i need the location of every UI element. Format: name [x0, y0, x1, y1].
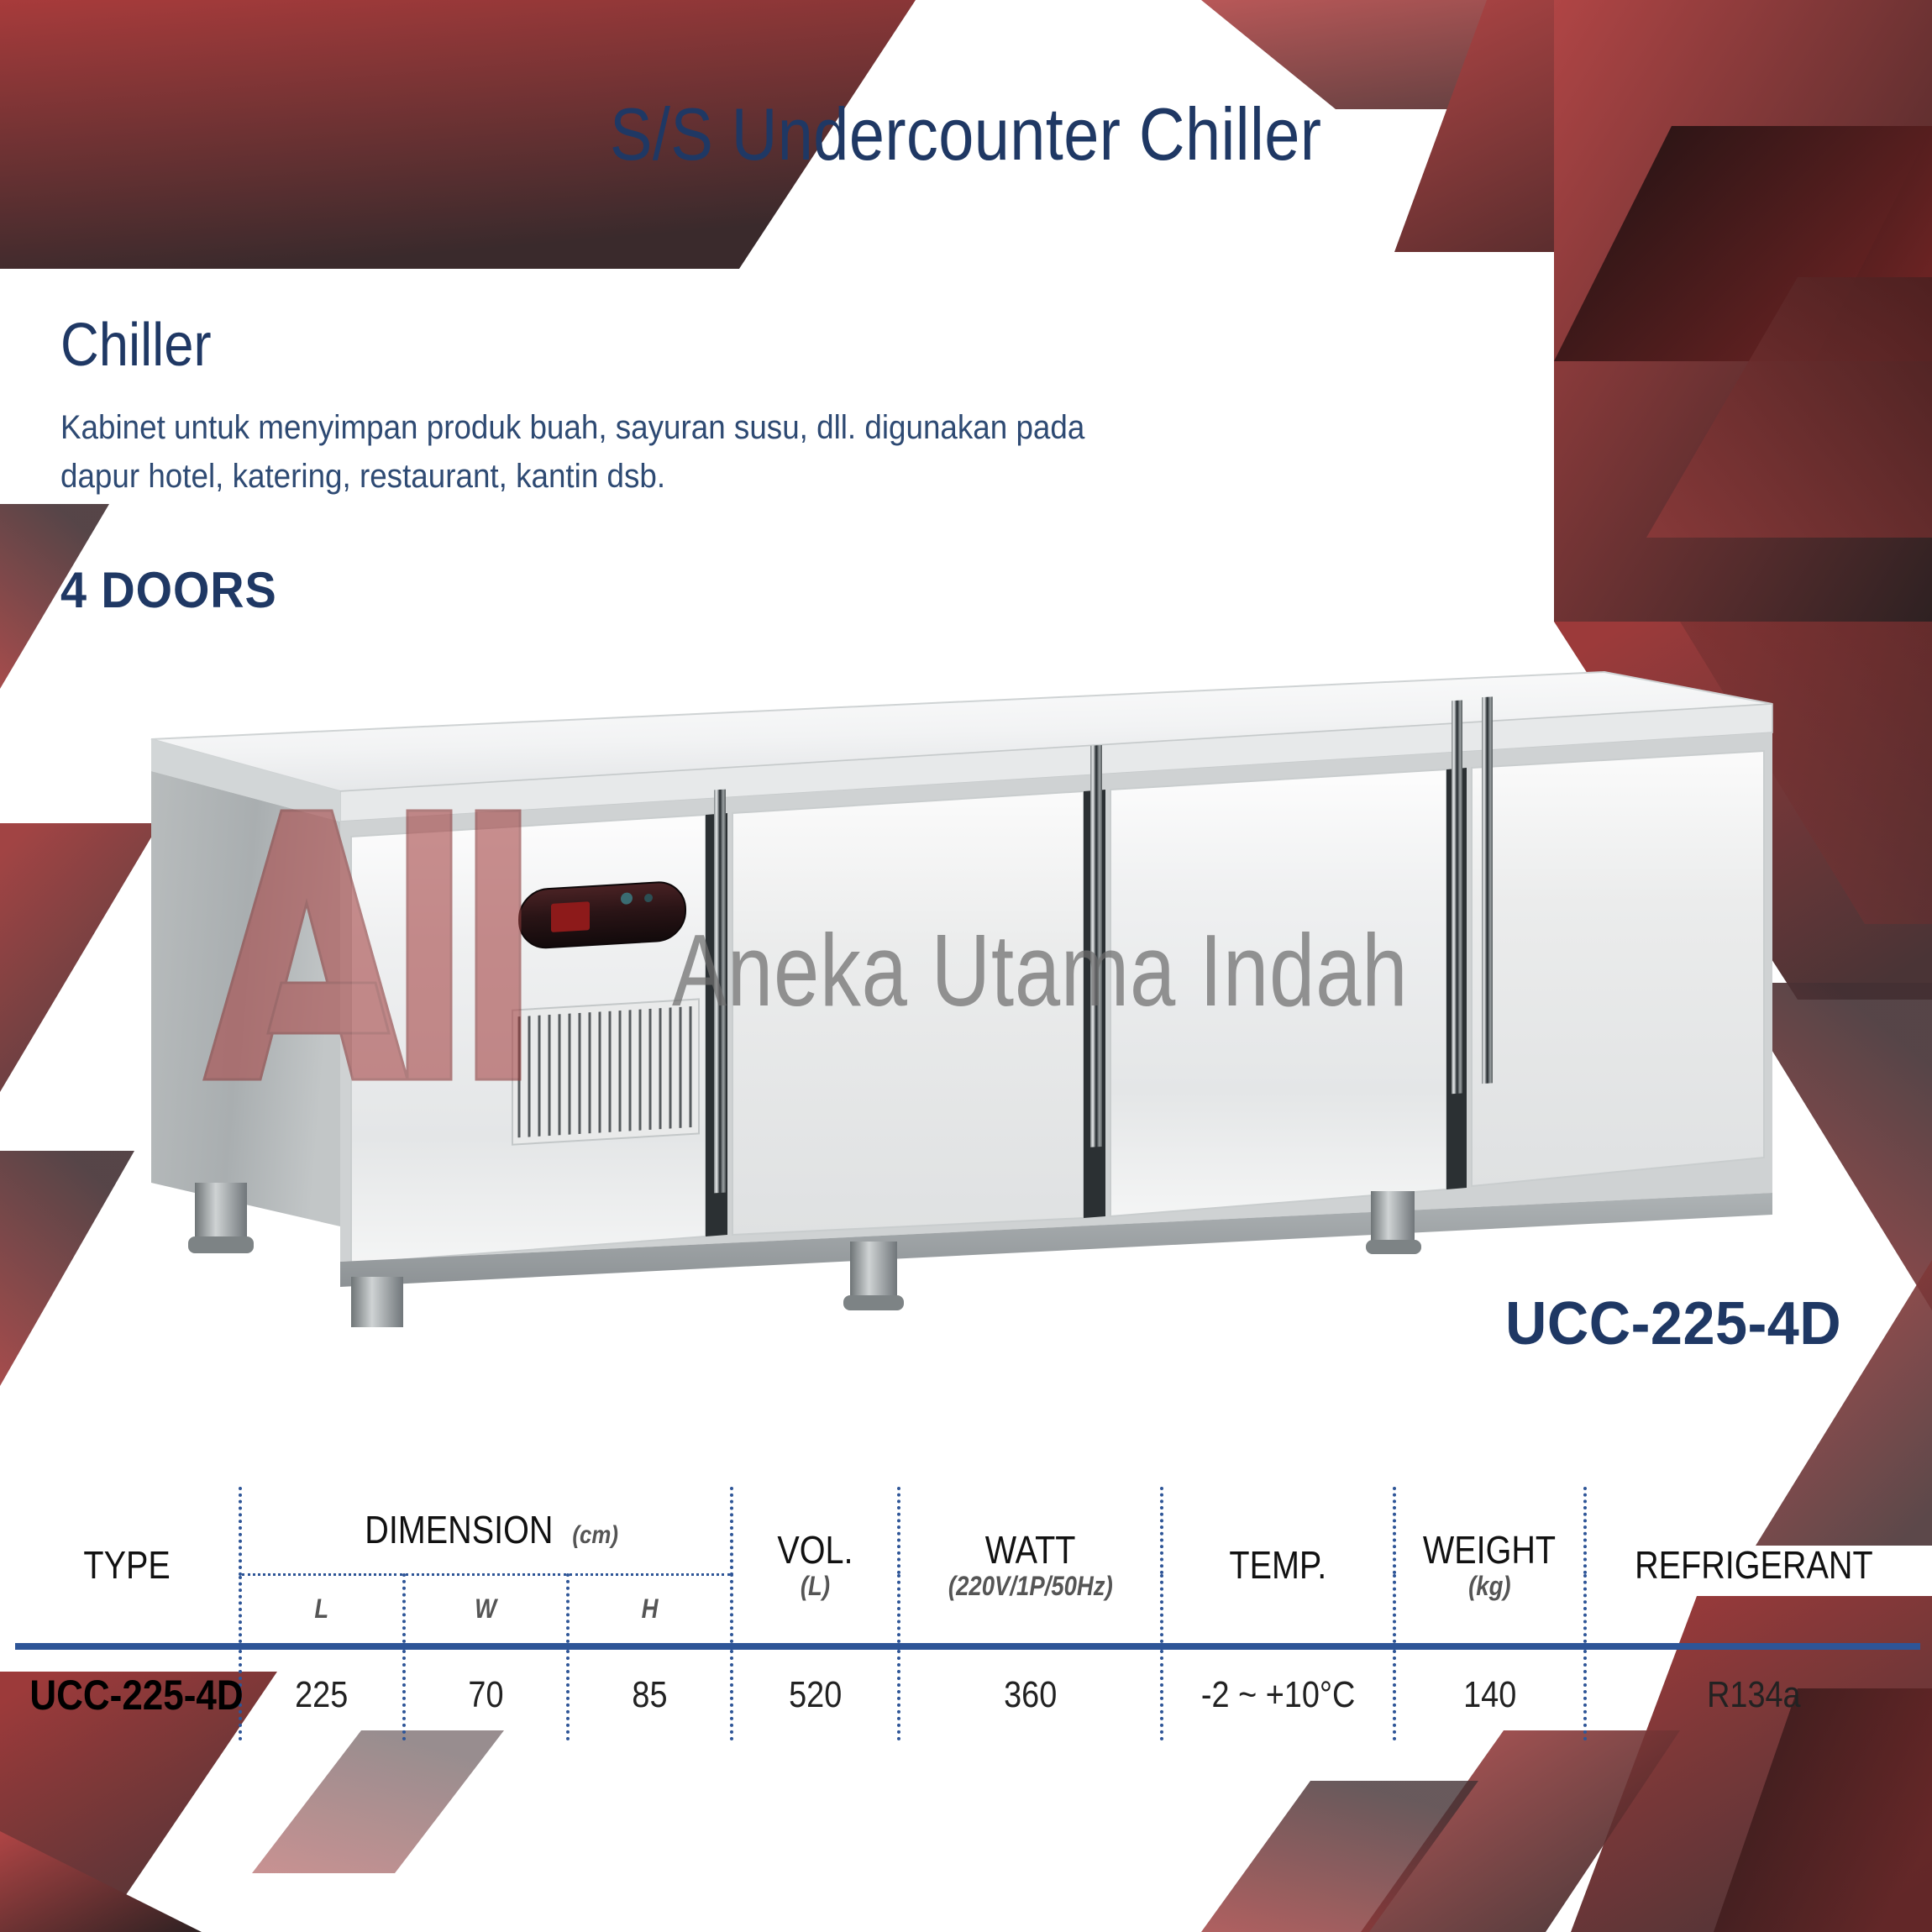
col-header-watt: WATT (220V/1P/50Hz) — [899, 1487, 1162, 1646]
chiller-illustration — [126, 638, 1806, 1327]
cell-weight: 140 — [1394, 1646, 1585, 1740]
door-handle-1 — [714, 790, 726, 1194]
model-code-label: UCC-225-4D — [1505, 1289, 1841, 1358]
col-header-dimension: DIMENSION(cm) — [240, 1487, 732, 1574]
cell-height: 85 — [568, 1646, 732, 1740]
col-header-weight: WEIGHT (kg) — [1394, 1487, 1585, 1646]
door-4 — [1472, 751, 1764, 1186]
description-line-2: dapur hotel, katering, restaurant, kanti… — [60, 452, 1220, 501]
doors-count-label: 4 DOORS — [60, 561, 1232, 619]
page-title: S/S Undercounter Chiller — [610, 92, 1321, 177]
leg-3 — [843, 1242, 904, 1310]
cell-width: 70 — [404, 1646, 568, 1740]
specification-table: TYPE DIMENSION(cm) VOL. (L) WATT (220V/1… — [15, 1487, 1920, 1740]
cell-watt: 360 — [899, 1646, 1162, 1740]
table-row: UCC-225-4D 225 70 85 520 360 -2 — [15, 1646, 1920, 1740]
col-header-length: L — [240, 1574, 404, 1646]
spec-table-element: TYPE DIMENSION(cm) VOL. (L) WATT (220V/1… — [15, 1487, 1920, 1740]
cell-refrigerant: R134a — [1585, 1646, 1920, 1740]
leg-4 — [1366, 1191, 1421, 1254]
door-handle-3 — [1452, 700, 1462, 1094]
product-image — [126, 638, 1806, 1327]
leg-2 — [344, 1277, 410, 1327]
door-handle-4 — [1482, 696, 1493, 1084]
cell-type: UCC-225-4D — [15, 1646, 240, 1740]
controller-display — [551, 901, 590, 932]
cabinet-left-side — [151, 771, 340, 1226]
description-line-1: Kabinet untuk menyimpan produk buah, say… — [60, 403, 1220, 452]
col-header-type: TYPE — [15, 1487, 240, 1646]
control-panel — [519, 880, 685, 949]
col-header-temp: TEMP. — [1162, 1487, 1394, 1646]
leg-1 — [188, 1183, 254, 1253]
door-3 — [1110, 769, 1446, 1216]
cell-volume: 520 — [732, 1646, 900, 1740]
cell-length: 225 — [240, 1646, 404, 1740]
ventilation-grille — [512, 999, 699, 1144]
cell-temp: -2 ~ +10°C — [1162, 1646, 1394, 1740]
door-handle-2 — [1090, 745, 1102, 1147]
title-bar: S/S Undercounter Chiller — [0, 0, 1932, 269]
door-2 — [732, 791, 1084, 1235]
col-header-volume: VOL. (L) — [732, 1487, 900, 1646]
col-header-height: H — [568, 1574, 732, 1646]
col-header-refrigerant: REFRIGERANT — [1585, 1487, 1920, 1646]
col-header-width: W — [404, 1574, 568, 1646]
intro-block: Chiller Kabinet untuk menyimpan produk b… — [60, 311, 1320, 619]
section-heading: Chiller — [60, 311, 1169, 380]
